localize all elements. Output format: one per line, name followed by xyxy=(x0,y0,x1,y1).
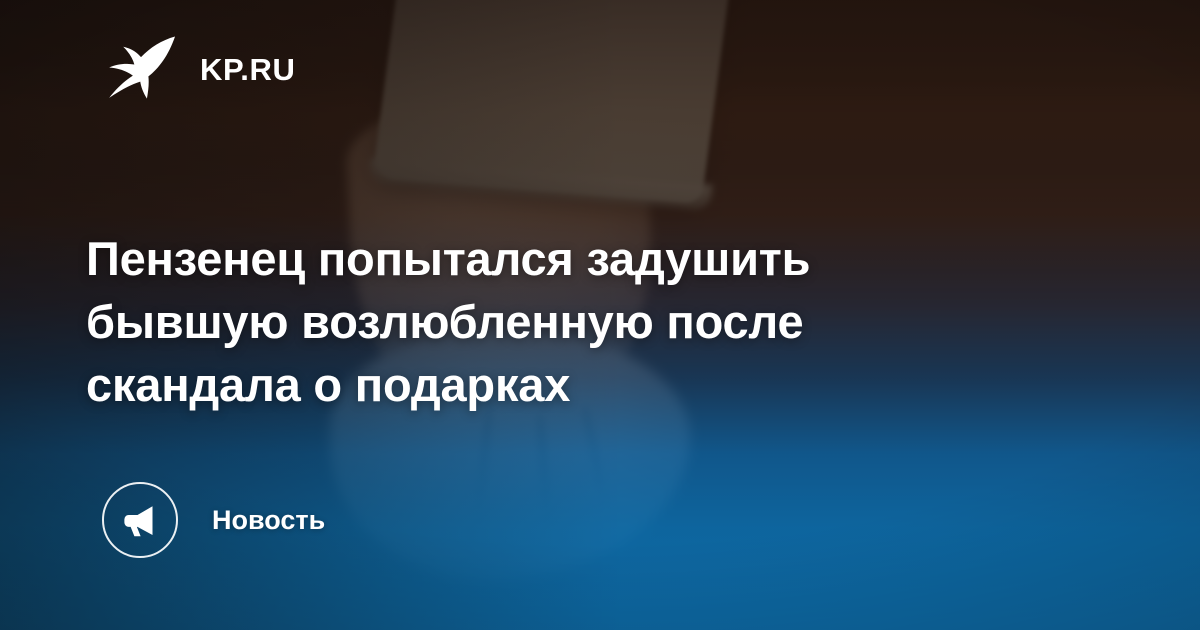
page-title: Пензенец попытался задушить бывшую возлю… xyxy=(86,227,1016,416)
card-content: KP.RU Пензенец попытался задушить бывшую… xyxy=(0,0,1200,630)
brand-logo-block[interactable]: KP.RU xyxy=(104,32,295,106)
swallow-bird-icon xyxy=(104,32,178,106)
status-badge-label: Новость xyxy=(212,507,325,534)
megaphone-icon xyxy=(102,482,178,558)
social-share-card: KP.RU Пензенец попытался задушить бывшую… xyxy=(0,0,1200,630)
status-badge[interactable]: Новость xyxy=(102,482,325,558)
brand-name: KP.RU xyxy=(200,54,295,85)
